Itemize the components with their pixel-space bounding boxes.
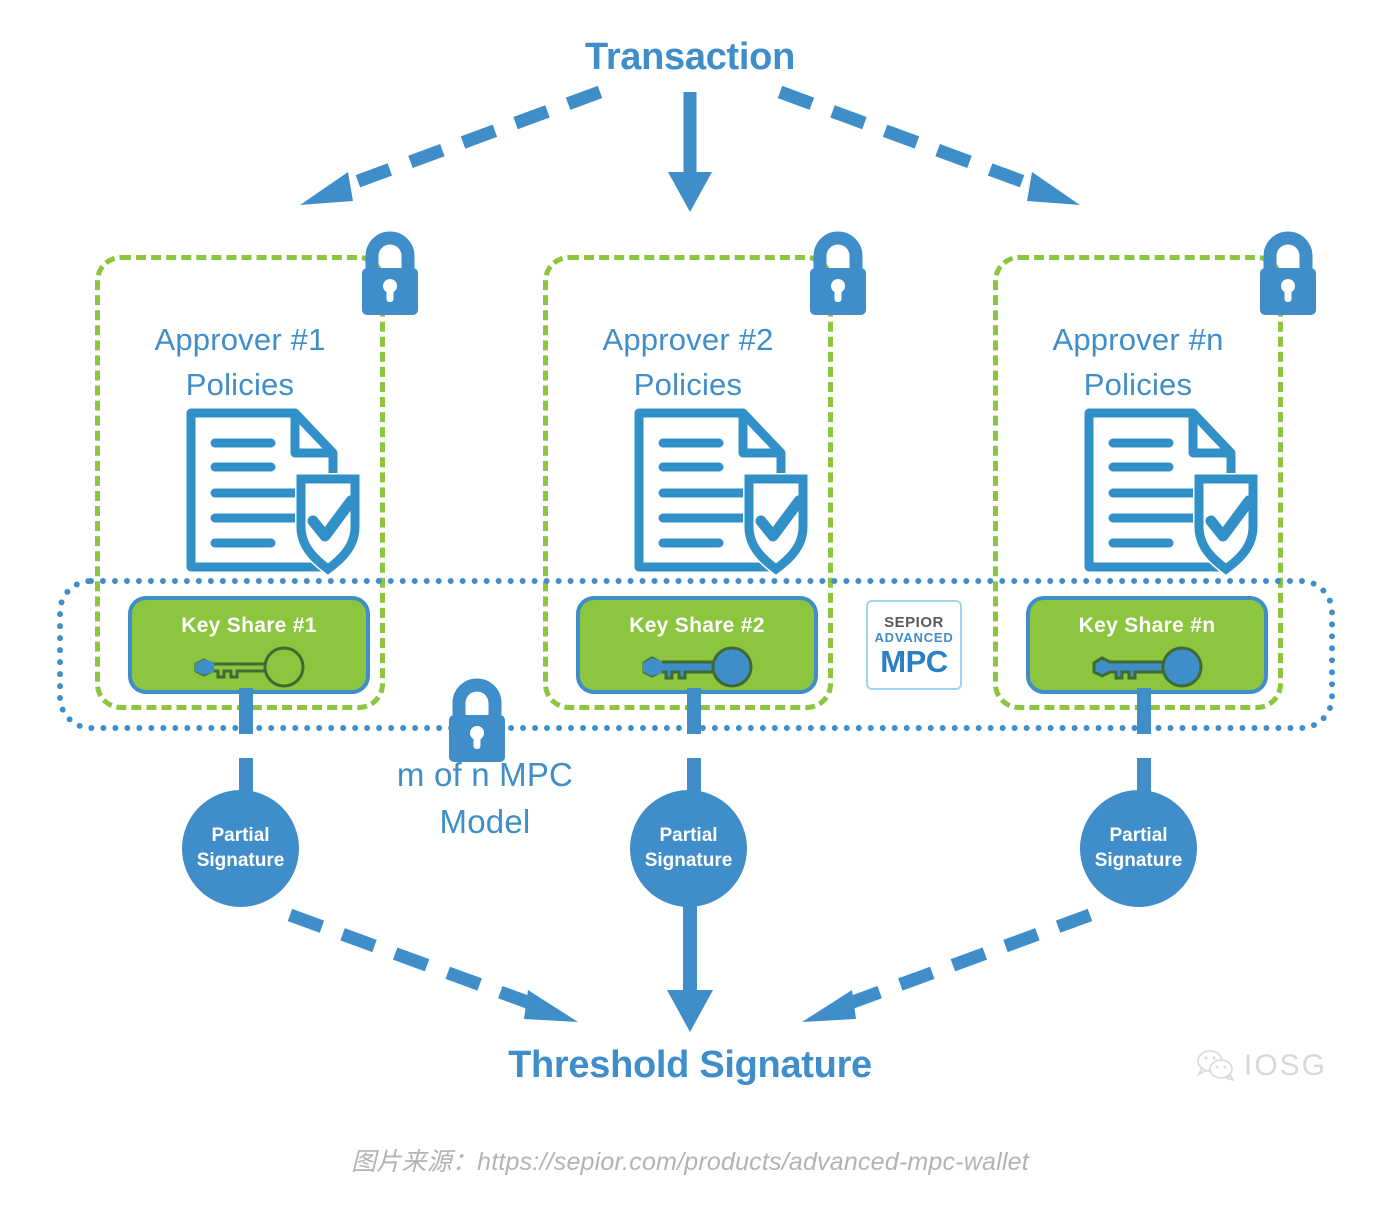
partial-signature-2-line1: Partial (645, 824, 733, 848)
key-share-box-2: Key Share #2 (576, 596, 818, 694)
iosg-watermark-label: IOSG (1244, 1049, 1327, 1083)
threshold-convergence-arrows (0, 860, 1380, 1050)
partial-signature-1-line1: Partial (197, 824, 285, 848)
threshold-signature-title: Threshold Signature (0, 1044, 1380, 1087)
key-share-2-label: Key Share #2 (580, 614, 814, 638)
sepior-logo-bottom: MPC (880, 646, 947, 677)
arrow-to-approver-n (780, 92, 1080, 205)
sepior-advanced-mpc-logo: SEPIOR ADVANCED MPC (866, 600, 962, 690)
key-icon (184, 644, 314, 690)
shield-check-icon (301, 479, 355, 569)
padlock-icon (350, 228, 430, 320)
arrow-partial-2-to-threshold (667, 902, 713, 1032)
sepior-logo-top: SEPIOR (884, 615, 944, 630)
diagram-canvas: Transaction Approver #1 Policies (0, 0, 1380, 1214)
source-caption: 图片来源：https://sepior.com/products/advance… (0, 1142, 1380, 1178)
key-share-n-connector (1137, 688, 1151, 734)
approver-n-label: Approver #n Policies (998, 318, 1278, 408)
arrow-to-approver-1 (300, 92, 600, 205)
key-share-n-label: Key Share #n (1030, 614, 1264, 638)
transaction-fanout-arrows (0, 0, 1380, 240)
document-shield-icon (1081, 405, 1261, 580)
iosg-watermark: IOSG (1196, 1049, 1327, 1083)
key-share-1-label: Key Share #1 (132, 614, 366, 638)
approver-1-label: Approver #1 Policies (100, 318, 380, 408)
partial-signature-n-line1: Partial (1095, 824, 1183, 848)
key-icon (1082, 644, 1212, 690)
padlock-icon (798, 228, 878, 320)
shield-check-icon (749, 479, 803, 569)
key-share-box-1: Key Share #1 (128, 596, 370, 694)
arrow-partial-1-to-threshold (290, 915, 578, 1022)
key-icon (632, 644, 762, 690)
arrow-to-approver-2 (668, 92, 712, 212)
key-share-box-n: Key Share #n (1026, 596, 1268, 694)
document-shield-icon (183, 405, 363, 580)
padlock-icon (1248, 228, 1328, 320)
document-shield-icon (631, 405, 811, 580)
key-share-2-connector (687, 688, 701, 734)
shield-check-icon (1199, 479, 1253, 569)
wechat-icon (1196, 1049, 1236, 1083)
key-share-1-connector (239, 688, 253, 734)
mpc-model-label: m of n MPC Model (325, 752, 645, 846)
approver-2-label: Approver #2 Policies (548, 318, 828, 408)
arrow-partial-n-to-threshold (802, 915, 1090, 1022)
